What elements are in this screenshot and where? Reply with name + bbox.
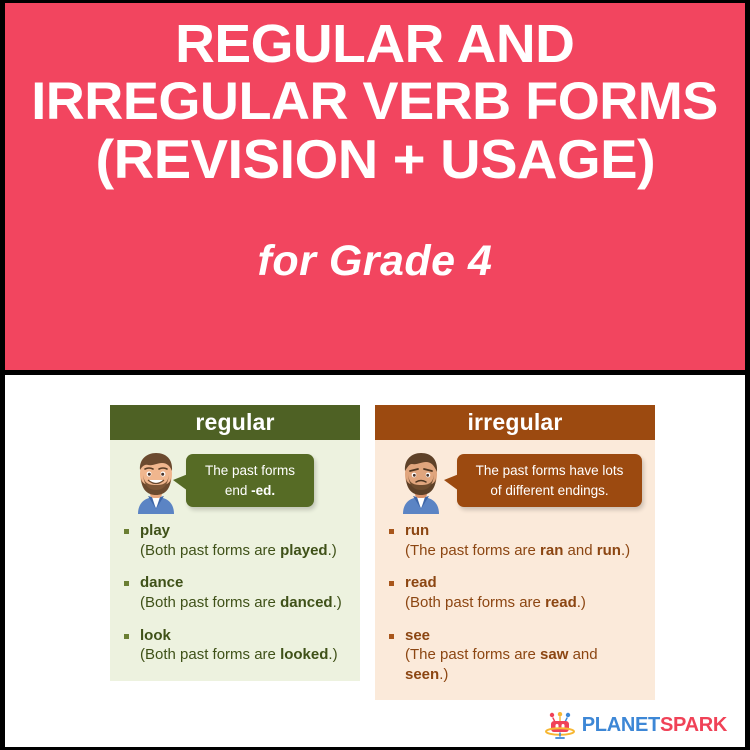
regular-bubble-line-1: The past forms <box>205 463 295 478</box>
regular-bubble-line-2-prefix: end <box>225 483 251 498</box>
note-prefix: (Both past forms are <box>405 594 545 611</box>
slide-canvas: REGULAR AND IRREGULAR VERB FORMS (REVISI… <box>0 0 750 750</box>
list-item: see (The past forms are saw and seen.) <box>385 627 645 685</box>
verb-note: (Both past forms are danced.) <box>140 593 350 613</box>
regular-bubble-line-2-bold: -ed. <box>251 483 275 498</box>
list-item: play (Both past forms are played.) <box>120 522 350 560</box>
planetspark-logo: PLANETSPARK <box>545 712 727 739</box>
note-bold: ran <box>540 542 563 559</box>
irregular-bubble-line-2: of different endings. <box>490 483 608 498</box>
list-item: run (The past forms are ran and run.) <box>385 522 645 560</box>
bullet-square-icon <box>124 529 129 534</box>
regular-verbs-panel: regular <box>110 405 360 681</box>
note-bold-2: run <box>597 542 621 559</box>
title-banner: REGULAR AND IRREGULAR VERB FORMS (REVISI… <box>0 0 750 375</box>
logo-word-spark: SPARK <box>660 714 727 736</box>
verb-note: (The past forms are ran and run.) <box>405 541 645 561</box>
regular-toon-row: The past forms end -ed. <box>120 448 350 516</box>
irregular-speech-bubble: The past forms have lots of different en… <box>457 454 642 507</box>
verb-note: (The past forms are saw and seen.) <box>405 645 645 684</box>
regular-verb-list: play (Both past forms are played.) dance… <box>120 522 350 665</box>
note-bold: looked <box>280 646 328 663</box>
verb-word: see <box>405 627 645 646</box>
bubble-tail <box>173 474 188 491</box>
regular-panel-header: regular <box>110 405 360 440</box>
regular-panel-body: The past forms end -ed. play (Both past … <box>110 440 360 681</box>
verb-word: dance <box>140 574 350 593</box>
title-line-3: (REVISION + USAGE) <box>95 130 655 189</box>
bullet-square-icon <box>124 581 129 586</box>
title-line-1: REGULAR AND <box>175 16 574 74</box>
irregular-toon-row: The past forms have lots of different en… <box>385 448 645 516</box>
subtitle: for Grade 4 <box>258 237 493 286</box>
note-prefix: (Both past forms are <box>140 646 280 663</box>
note-prefix: (The past forms are <box>405 646 540 663</box>
list-item: read (Both past forms are read.) <box>385 574 645 612</box>
regular-speech-bubble: The past forms end -ed. <box>186 454 314 507</box>
note-bold-2: seen <box>405 666 439 683</box>
note-bold: danced <box>280 594 333 611</box>
bullet-square-icon <box>389 529 394 534</box>
verb-note: (Both past forms are read.) <box>405 593 645 613</box>
note-suffix: .) <box>577 594 586 611</box>
bullet-square-icon <box>124 634 129 639</box>
note-suffix: .) <box>333 594 342 611</box>
list-item: dance (Both past forms are danced.) <box>120 574 350 612</box>
irregular-bubble-line-1: The past forms have lots <box>476 463 624 478</box>
irregular-verbs-panel: irregular <box>375 405 655 700</box>
bubble-tail <box>444 474 459 491</box>
content-area: regular <box>5 378 745 747</box>
note-suffix: .) <box>328 542 337 559</box>
logo-word-planet: PLANET <box>582 714 660 736</box>
verb-note: (Both past forms are played.) <box>140 541 350 561</box>
note-mid: and <box>563 542 596 559</box>
note-suffix: .) <box>328 646 337 663</box>
verb-panels: regular <box>110 405 655 700</box>
note-prefix: (The past forms are <box>405 542 540 559</box>
note-bold: saw <box>540 646 568 663</box>
verb-word: play <box>140 522 350 541</box>
verb-word: read <box>405 574 645 593</box>
note-mid: and <box>568 646 597 663</box>
note-prefix: (Both past forms are <box>140 594 280 611</box>
title-line-2: IRREGULAR VERB FORMS <box>32 74 719 131</box>
irregular-verb-list: run (The past forms are ran and run.) re… <box>385 522 645 684</box>
note-bold: played <box>280 542 328 559</box>
planetspark-robot-icon <box>545 712 575 739</box>
note-prefix: (Both past forms are <box>140 542 280 559</box>
verb-word: run <box>405 522 645 541</box>
note-suffix: .) <box>439 666 448 683</box>
bullet-square-icon <box>389 581 394 586</box>
planetspark-wordmark: PLANETSPARK <box>582 714 727 737</box>
worried-bearded-man-avatar-icon <box>391 450 451 514</box>
verb-note: (Both past forms are looked.) <box>140 645 350 665</box>
irregular-panel-header: irregular <box>375 405 655 440</box>
list-item: look (Both past forms are looked.) <box>120 627 350 665</box>
verb-word: look <box>140 627 350 646</box>
note-suffix: .) <box>621 542 630 559</box>
irregular-panel-body: The past forms have lots of different en… <box>375 440 655 700</box>
bullet-square-icon <box>389 634 394 639</box>
note-bold: read <box>545 594 577 611</box>
